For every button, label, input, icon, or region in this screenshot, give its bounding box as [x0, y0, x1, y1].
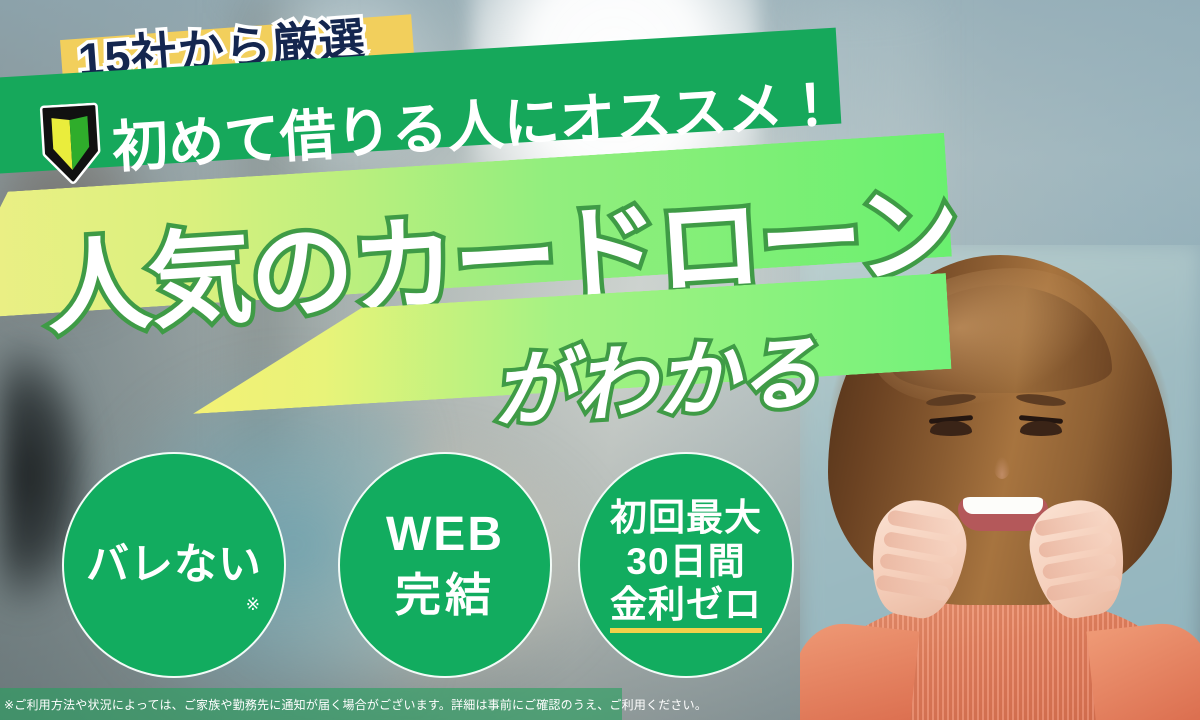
- badge-kinri-zero[interactable]: 初回最大 30日間 金利ゼロ: [578, 452, 794, 678]
- arm-left: [800, 619, 920, 720]
- badge-web-kanketsu[interactable]: WEB 完結: [338, 452, 552, 678]
- beginner-driver-mark-icon: [38, 102, 105, 186]
- finger: [875, 574, 950, 602]
- badge-bare-nai[interactable]: バレない ※: [62, 452, 286, 678]
- badge-superscript: ※: [246, 595, 260, 614]
- promo-banner: 15社から厳選 初めて借りる人にオススメ！ 人気のカードローン がわかる バレな…: [0, 0, 1200, 720]
- badge-line: バレない: [86, 541, 262, 589]
- badge-line: 初回最大: [610, 497, 762, 538]
- subline-text: がわかる: [488, 306, 822, 444]
- finger: [1045, 574, 1120, 602]
- badge-line: 30日間: [626, 541, 745, 582]
- badge-line: WEB: [386, 508, 504, 562]
- teeth: [963, 497, 1043, 514]
- arm-right: [1086, 619, 1200, 720]
- nose: [994, 457, 1010, 479]
- eye-left: [930, 421, 972, 436]
- eye-right: [1020, 421, 1062, 436]
- badge-line: 完結: [395, 570, 495, 622]
- badge-line-underlined: 金利ゼロ: [610, 584, 762, 632]
- disclaimer-note: ※ご利用方法や状況によっては、ご家族や勤務先に通知が届く場合がございます。詳細は…: [0, 688, 622, 720]
